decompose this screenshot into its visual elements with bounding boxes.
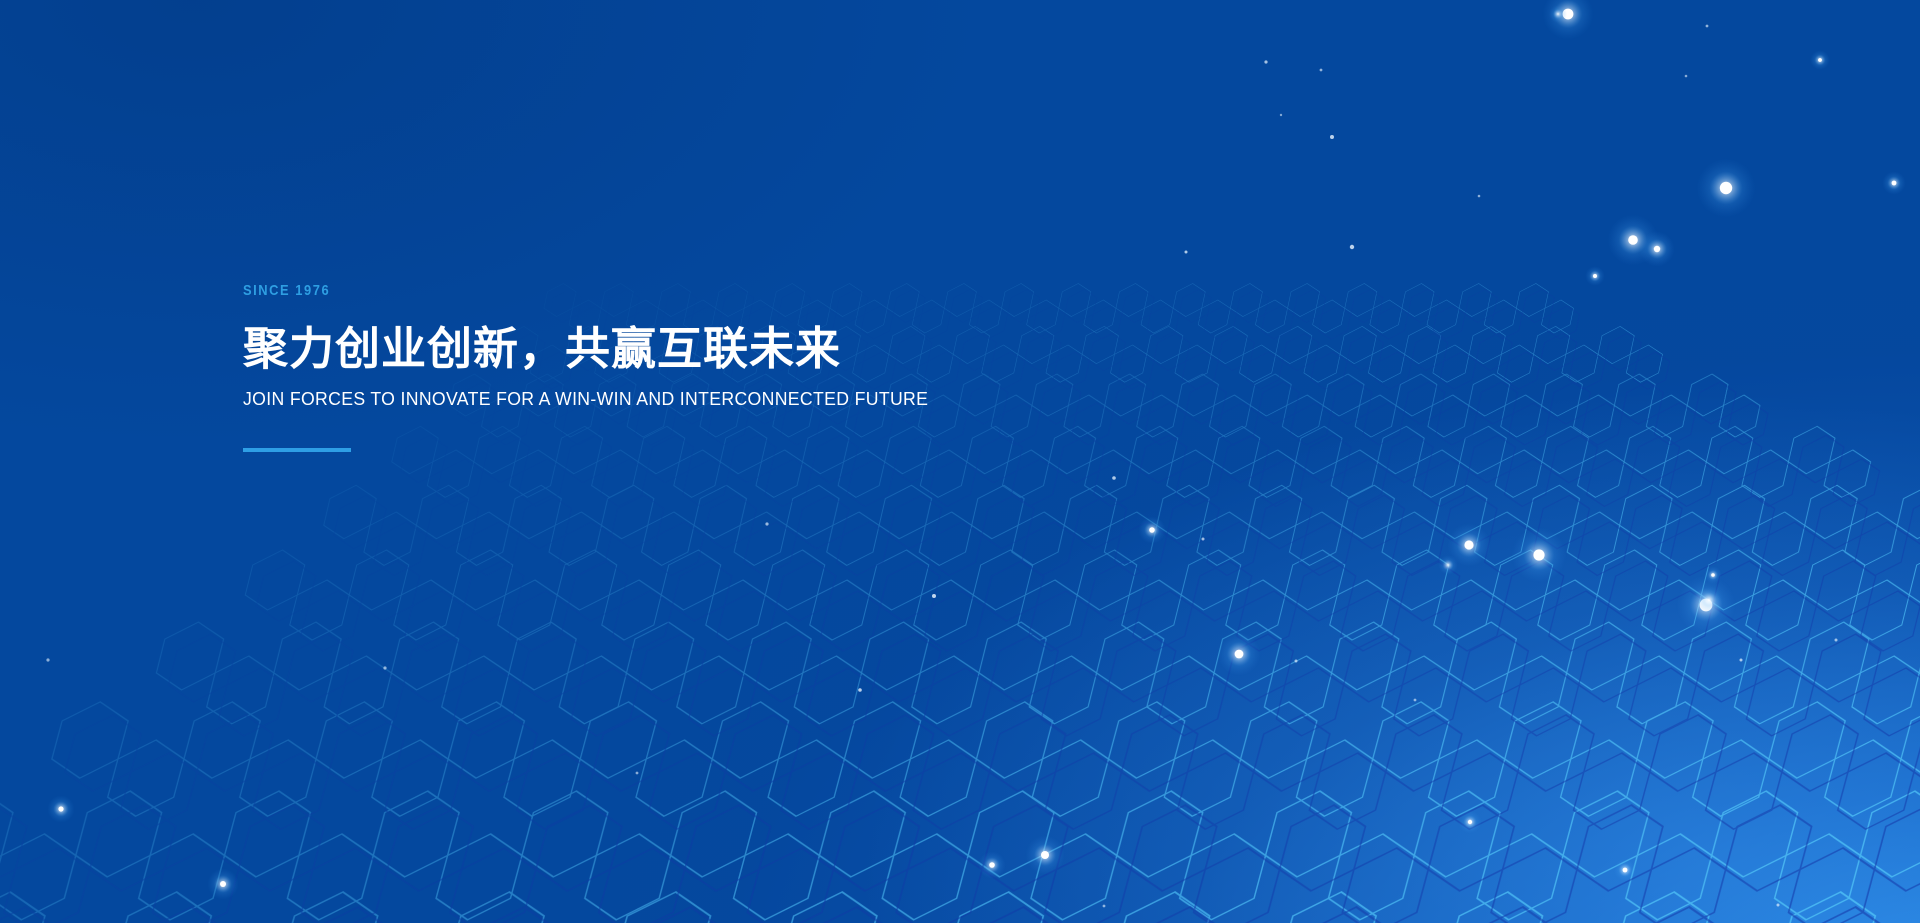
hero-copy-block: SINCE 1976 聚力创业创新，共赢互联未来 JOIN FORCES TO … <box>243 283 1343 452</box>
page-title: 聚力创业创新，共赢互联未来 <box>243 325 1343 374</box>
page-subtitle: JOIN FORCES TO INNOVATE FOR A WIN-WIN AN… <box>243 388 1294 410</box>
since-eyebrow: SINCE 1976 <box>243 283 1189 298</box>
glow-dots <box>0 0 1920 923</box>
hero-banner: SINCE 1976 聚力创业创新，共赢互联未来 JOIN FORCES TO … <box>0 0 1920 923</box>
accent-rule <box>243 448 351 452</box>
